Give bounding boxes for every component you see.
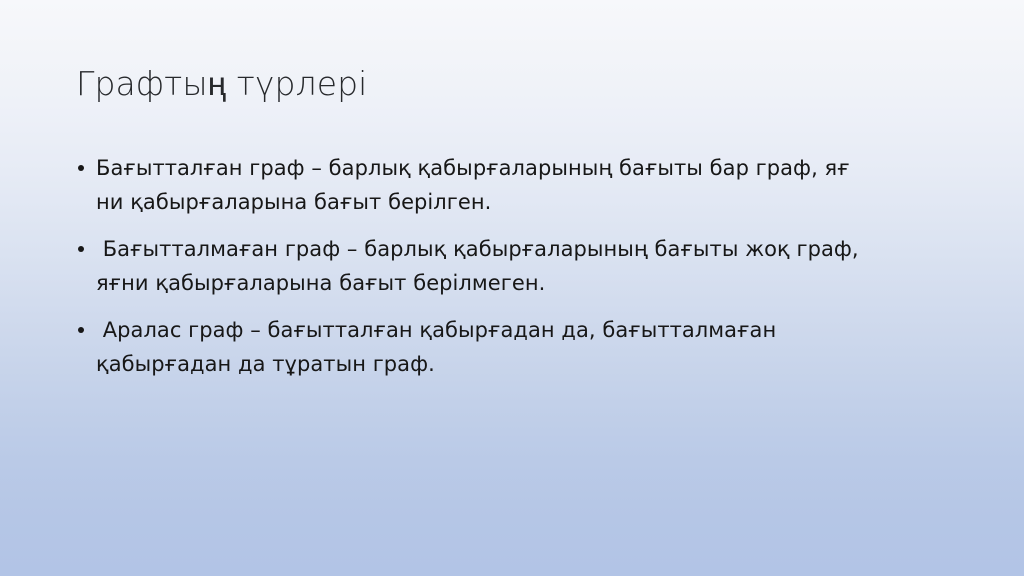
bullet-point-icon [78,246,84,252]
slide-body-content: Бағытталған граф – барлық қабырғаларының… [70,152,970,381]
text-line: Бағытталған граф – барлық қабырғаларының… [96,152,970,186]
text-line: Аралас граф – бағытталған қабырғадан да,… [96,314,970,348]
list-item-text: Бағытталған граф – барлық қабырғаларының… [96,152,970,219]
text-line: ни қабырғаларына бағыт берілген. [96,186,970,220]
bullet-point-icon [78,165,84,171]
list-item: Аралас граф – бағытталған қабырғадан да,… [70,314,970,381]
text-line: қабырғадан да тұратын граф. [96,348,970,382]
list-item-text: Аралас граф – бағытталған қабырғадан да,… [96,314,970,381]
list-item: Бағытталған граф – барлық қабырғаларының… [70,152,970,219]
presentation-slide: Графтың түрлері Бағытталған граф – барлы… [0,0,1024,576]
bullet-point-icon [78,327,84,333]
text-line: Бағытталмаған граф – барлық қабырғаларын… [96,233,970,267]
list-item: Бағытталмаған граф – барлық қабырғаларын… [70,233,970,300]
list-item-text: Бағытталмаған граф – барлық қабырғаларын… [96,233,970,300]
page-title: Графтың түрлері [76,62,956,106]
text-line: яғни қабырғаларына бағыт берілмеген. [96,267,970,301]
